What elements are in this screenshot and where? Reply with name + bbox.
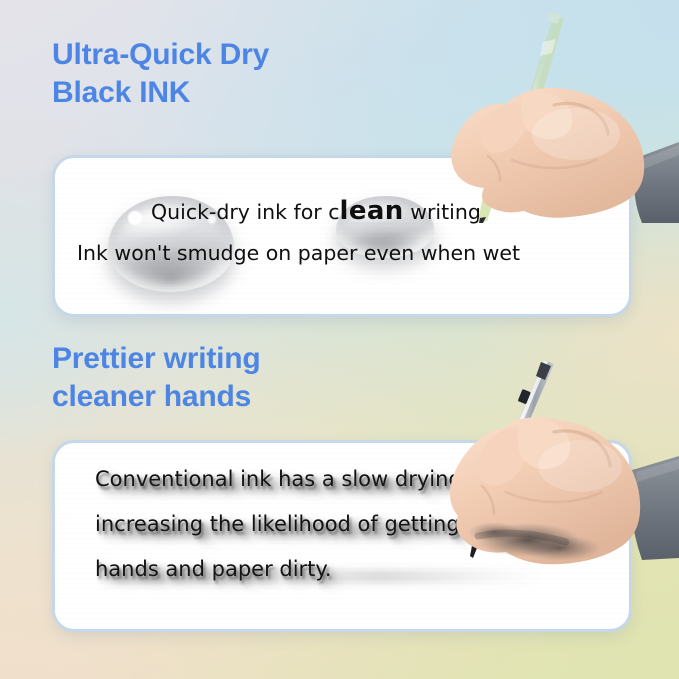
sleeve-cuff bbox=[634, 142, 679, 223]
sleeve-highlight bbox=[640, 145, 679, 170]
headline-ultra-quick-dry: Ultra-Quick Dry Black INK bbox=[52, 36, 269, 113]
sleeve-cuff bbox=[630, 456, 679, 560]
handwriting-magnified-text: lean bbox=[340, 196, 404, 226]
quick-dry-handwriting: Quick-dry ink for clean writing Ink won'… bbox=[73, 198, 520, 264]
smudged-line-2: increasing the likelihood of getting bbox=[95, 514, 523, 535]
sleeve-highlight bbox=[636, 459, 679, 482]
handwriting-line-1-prefix: Quick-dry ink for c bbox=[151, 200, 340, 224]
conventional-ink-handwriting: Conventional ink has a slow drying time,… bbox=[95, 469, 523, 604]
handwriting-line-2: Ink won't smudge on paper even when wet bbox=[77, 243, 520, 264]
quick-dry-demo-card: Quick-dry ink for clean writing Ink won'… bbox=[52, 155, 632, 317]
smudged-line-1: Conventional ink has a slow drying time, bbox=[95, 469, 523, 490]
handwriting-line-1: Quick-dry ink for clean writing bbox=[151, 198, 520, 224]
handwriting-line-1-suffix: writing bbox=[404, 200, 481, 224]
headline-prettier-writing: Prettier writing cleaner hands bbox=[52, 340, 261, 417]
smudged-line-3: hands and paper dirty. bbox=[95, 559, 523, 580]
product-poster: Ultra-Quick Dry Black INK Quick-dry ink … bbox=[0, 0, 679, 679]
conventional-ink-demo-card: Conventional ink has a slow drying time,… bbox=[52, 440, 632, 632]
